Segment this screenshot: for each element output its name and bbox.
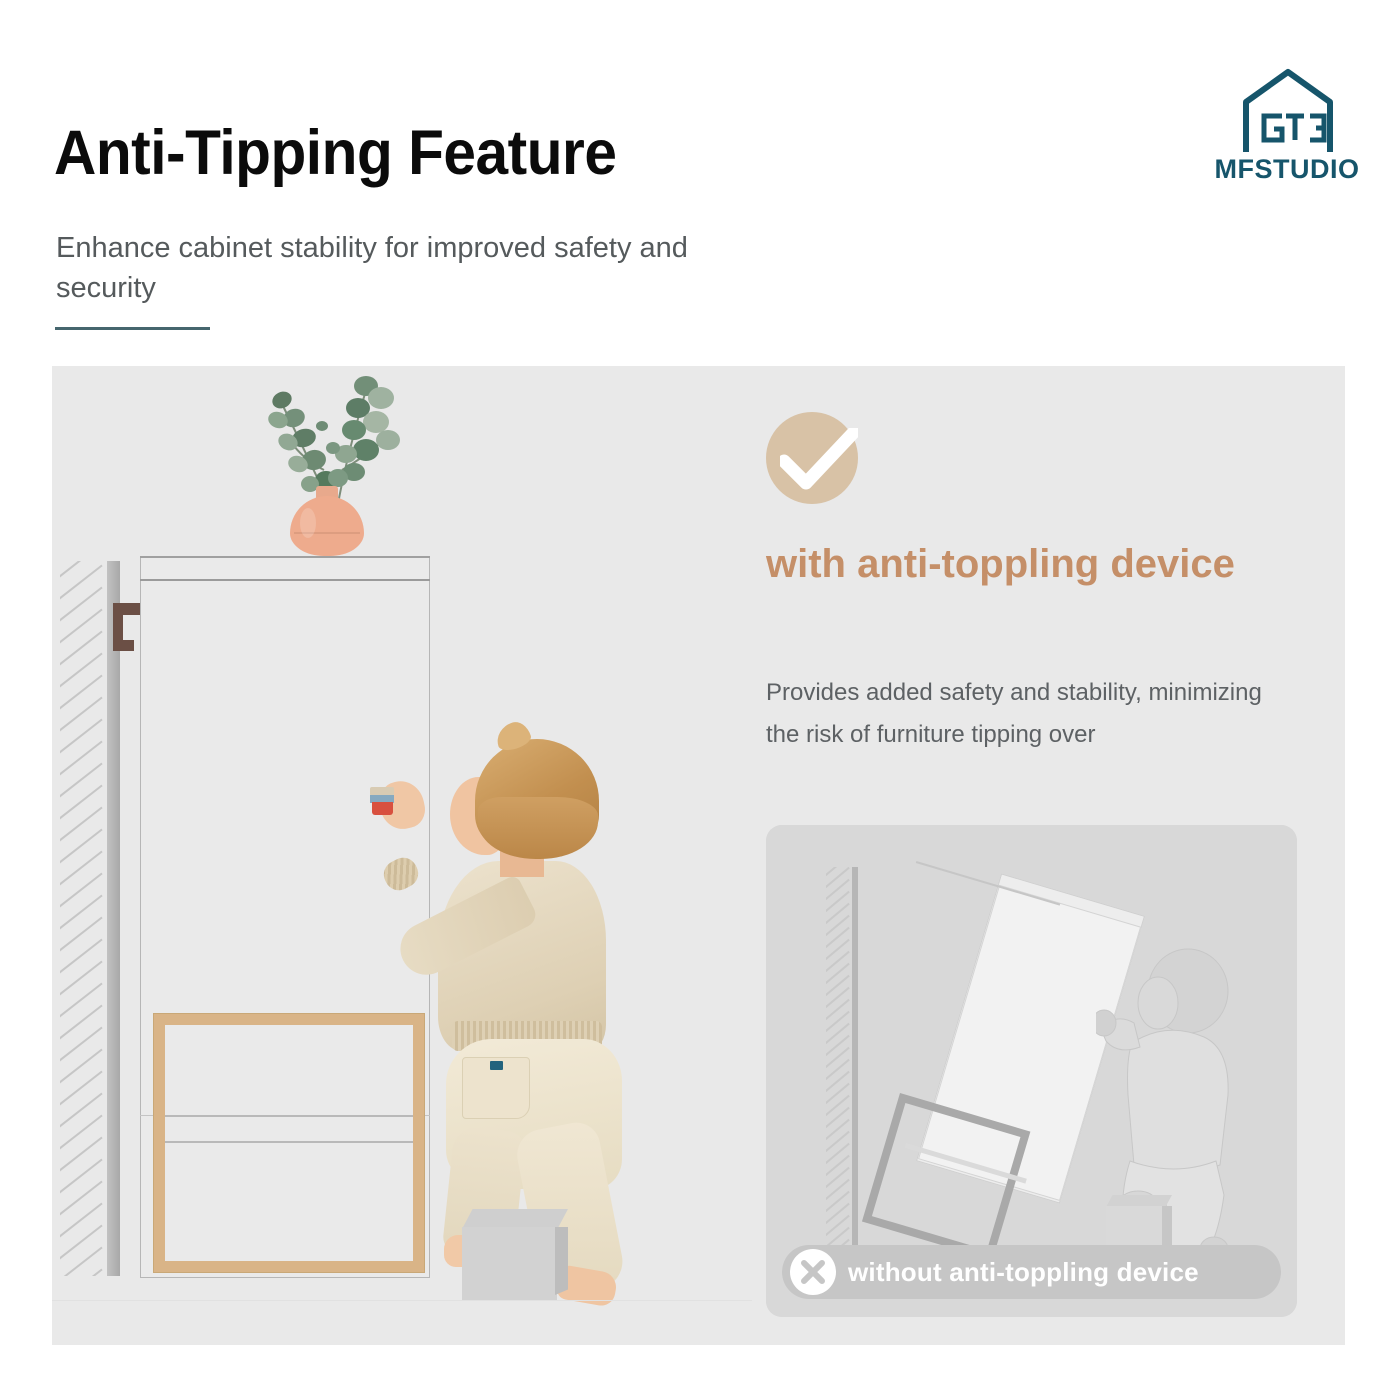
toy-block-icon <box>370 787 394 815</box>
callout-title: with anti-toppling device <box>766 538 1286 590</box>
main-illustration <box>52 366 752 1345</box>
cabinet-top-panel-line <box>140 579 430 581</box>
brand-wordmark: MFSTUDIO <box>1212 154 1362 185</box>
inset-hatched-wall-icon <box>826 867 854 1267</box>
callout-body: Provides added safety and stability, min… <box>766 672 1266 756</box>
without-device-inset-panel: without anti-toppling device <box>766 825 1297 1317</box>
check-circle-icon <box>766 412 858 504</box>
toddler-pulling-cabinet <box>382 721 632 1276</box>
vase-highlight <box>300 508 316 538</box>
stool-top <box>462 1209 568 1229</box>
x-circle-icon <box>790 1249 836 1295</box>
pants-brand-tag <box>490 1061 503 1070</box>
drawer-divider-line-2 <box>165 1141 413 1143</box>
inset-stool-side <box>1162 1206 1172 1250</box>
status-badge: without anti-toppling device <box>782 1245 1281 1299</box>
drawer-divider-line <box>165 1115 413 1117</box>
eucalyptus-plant-icon <box>238 366 428 506</box>
inset-wall-post <box>852 867 858 1267</box>
stool-side <box>555 1227 568 1295</box>
title-underline-rule <box>55 327 210 330</box>
child-sweater-cuff <box>379 853 423 895</box>
page-header: Anti-Tipping Feature Enhance cabinet sta… <box>0 0 1400 366</box>
brand-logo: MFSTUDIO <box>1212 66 1362 190</box>
page-title: Anti-Tipping Feature <box>54 116 616 190</box>
anti-tip-bracket-foot <box>113 640 134 651</box>
cabinet-top-edge <box>140 556 430 558</box>
terracotta-vase-icon <box>290 486 364 556</box>
wall-post <box>107 561 120 1276</box>
stool-front <box>462 1227 557 1300</box>
mfstudio-house-logo-icon <box>1238 66 1338 152</box>
feature-panel: with anti-toppling device Provides added… <box>52 366 1345 1345</box>
status-badge-label: without anti-toppling device <box>848 1257 1199 1288</box>
check-mark-glyph <box>780 428 858 490</box>
callout-column: with anti-toppling device Provides added… <box>766 366 1345 1345</box>
floor-line <box>52 1300 752 1301</box>
page-subtitle: Enhance cabinet stability for improved s… <box>56 228 696 308</box>
step-stool <box>462 1209 568 1300</box>
hatched-wall-icon <box>60 561 108 1276</box>
